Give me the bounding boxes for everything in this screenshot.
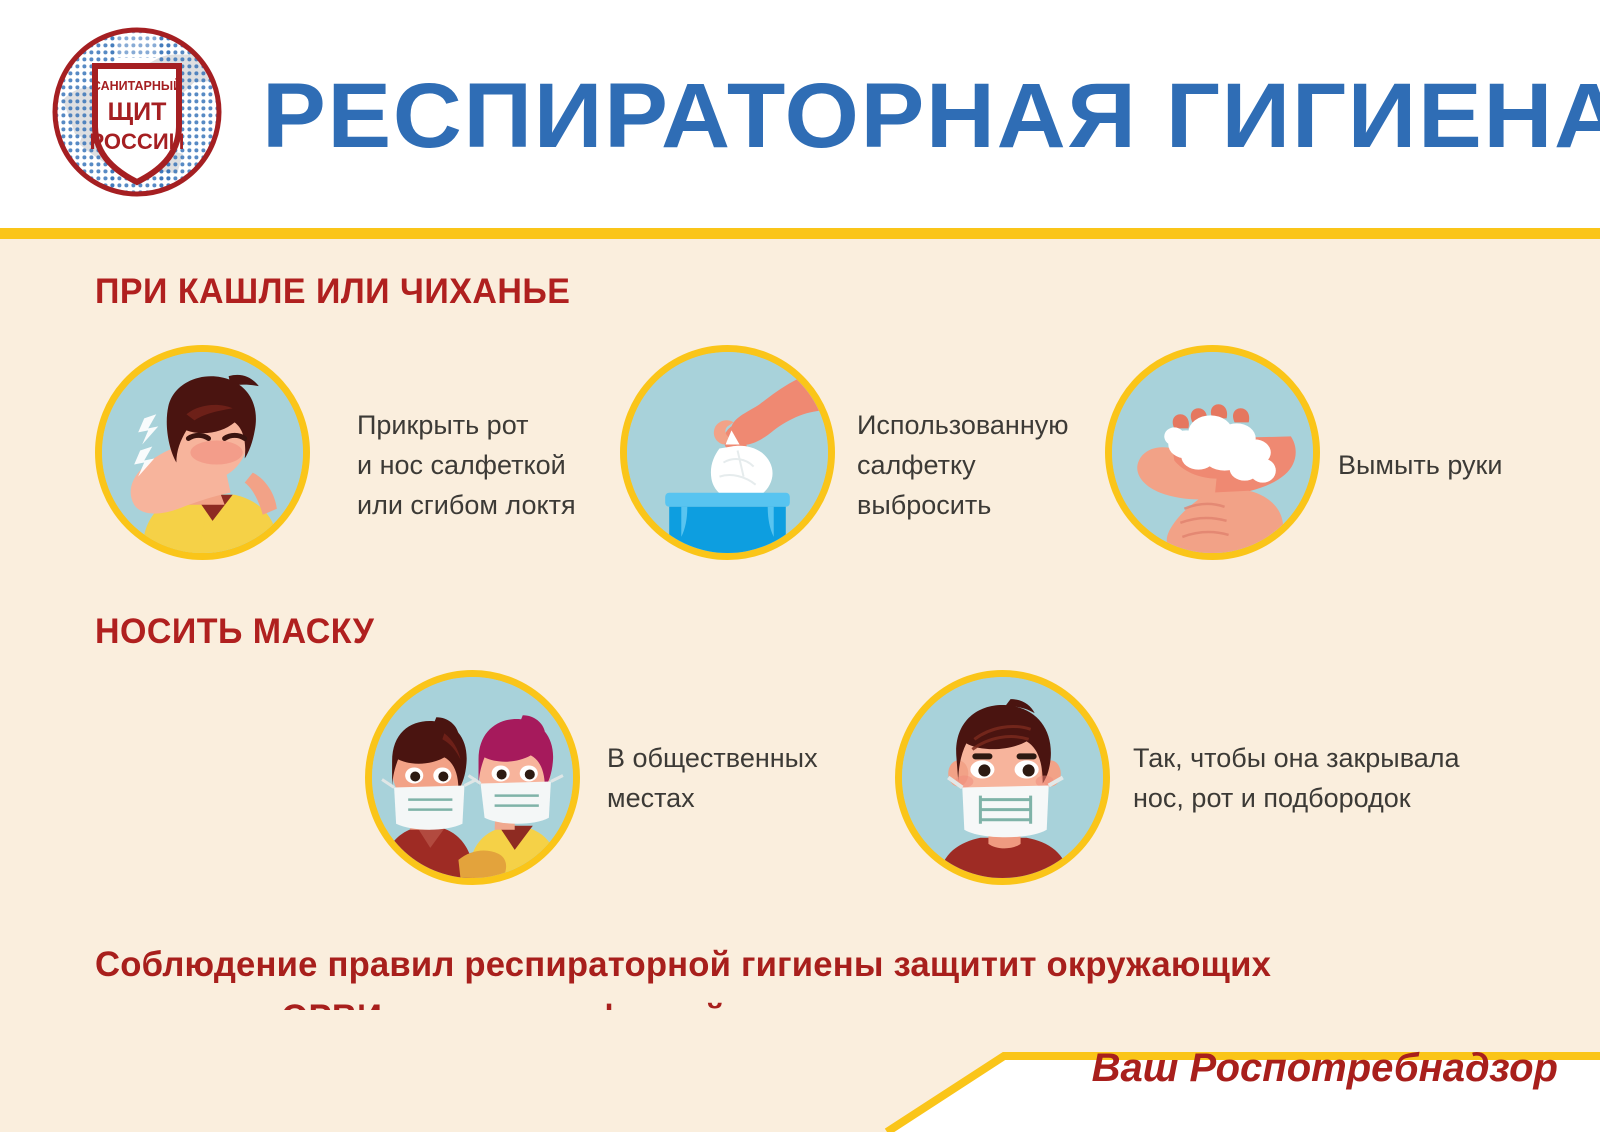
logo-line3: РОССИИ [90,129,185,154]
section-heading-wear-mask: НОСИТЬ МАСКУ [95,612,374,652]
header-divider-bar [0,228,1600,239]
person-sneezing-into-elbow-illustration [95,345,310,560]
sanitary-shield-logo: САНИТАРНЫЙ ЩИТ РОССИИ [47,22,227,202]
two-people-wearing-masks-illustration [365,670,580,885]
caption-cover-mouth: Прикрыть рот и нос салфеткой или сгибом … [357,405,627,525]
footer-signature: Ваш Роспотребнадзор [1092,1038,1558,1098]
header: САНИТАРНЫЙ ЩИТ РОССИИ РЕСПИРАТОРНАЯ ГИГИ… [0,0,1600,230]
footer: Ваш Роспотребнадзор [0,1010,1600,1132]
section-heading-cough-sneeze: ПРИ КАШЛЕ ИЛИ ЧИХАНЬЕ [95,272,570,312]
person-wearing-mask-correctly-illustration [895,670,1110,885]
logo-line1: САНИТАРНЫЙ [92,78,182,93]
page-title: РЕСПИРАТОРНАЯ ГИГИЕНА [262,56,1600,176]
logo-line2: ЩИТ [108,98,167,126]
caption-wash-hands: Вымыть руки [1338,445,1578,485]
caption-cover-nose-mouth-chin: Так, чтобы она закрывала нос, рот и подб… [1133,738,1533,818]
caption-public-places: В общественных местах [607,738,887,818]
poster-root: САНИТАРНЫЙ ЩИТ РОССИИ РЕСПИРАТОРНАЯ ГИГИ… [0,0,1600,1132]
hand-dropping-tissue-in-bin-illustration [620,345,835,560]
washing-hands-with-soap-illustration [1105,345,1320,560]
